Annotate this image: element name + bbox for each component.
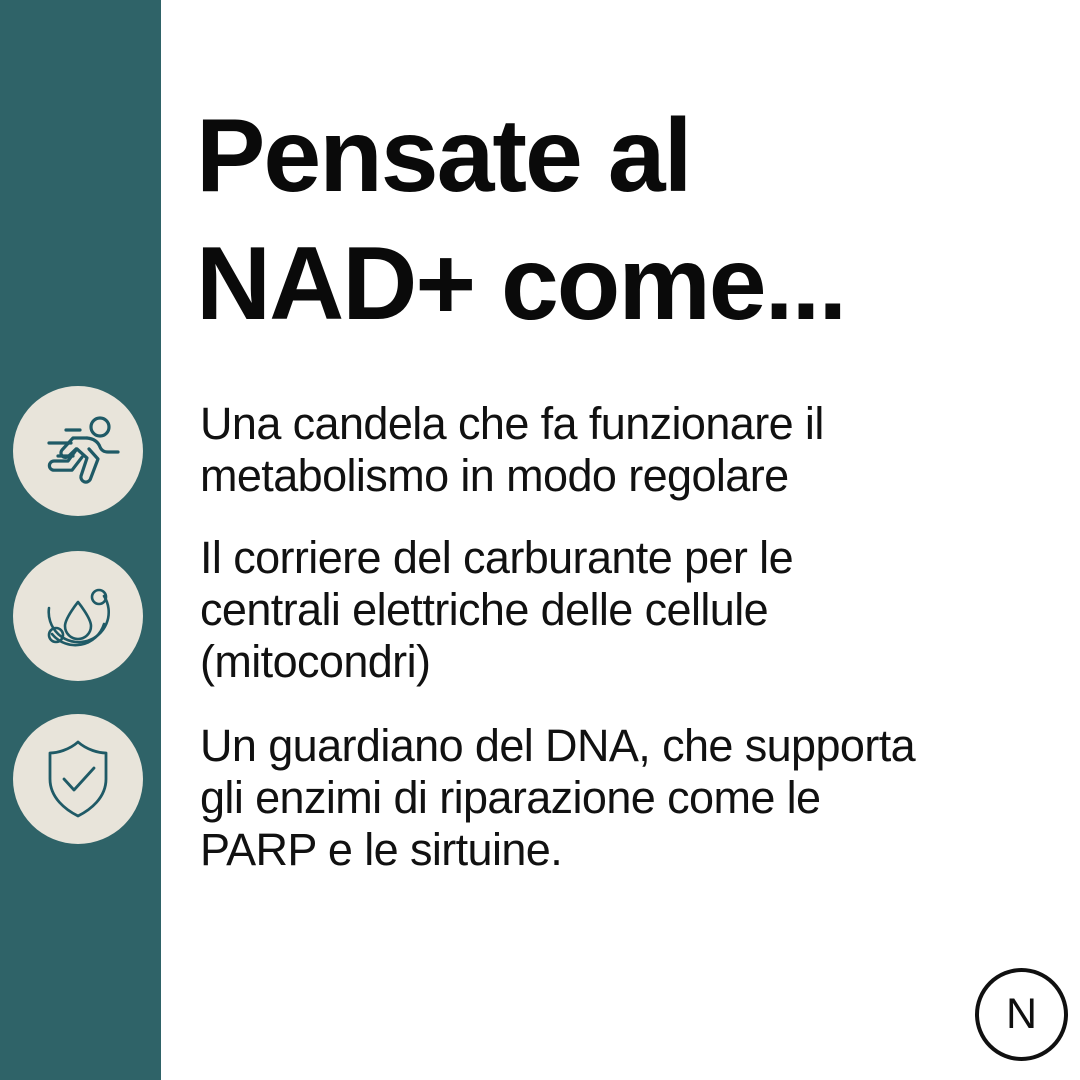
- logo-letter: N: [1006, 993, 1037, 1036]
- sidebar-item-metabolism[interactable]: [13, 386, 143, 516]
- body-paragraph-3: Un guardiano del DNA, che supporta gli e…: [200, 720, 1030, 876]
- sidebar-teal-rail: [0, 0, 161, 1080]
- page-title: Pensate al NAD+ come...: [196, 92, 996, 348]
- slide-canvas: Pensate al NAD+ come... Una candela che …: [0, 0, 1080, 1080]
- sidebar-item-dna-protection[interactable]: [13, 714, 143, 844]
- shield-check-icon: [33, 734, 123, 824]
- sidebar-item-mitochondria[interactable]: [13, 551, 143, 681]
- running-person-icon: [30, 403, 126, 499]
- water-droplet-orbit-icon: [32, 570, 124, 662]
- body-paragraph-2: Il corriere del carburante per le centra…: [200, 532, 1030, 688]
- brand-logo[interactable]: N: [975, 968, 1068, 1061]
- body-paragraph-1: Una candela che fa funzionare il metabol…: [200, 398, 1030, 502]
